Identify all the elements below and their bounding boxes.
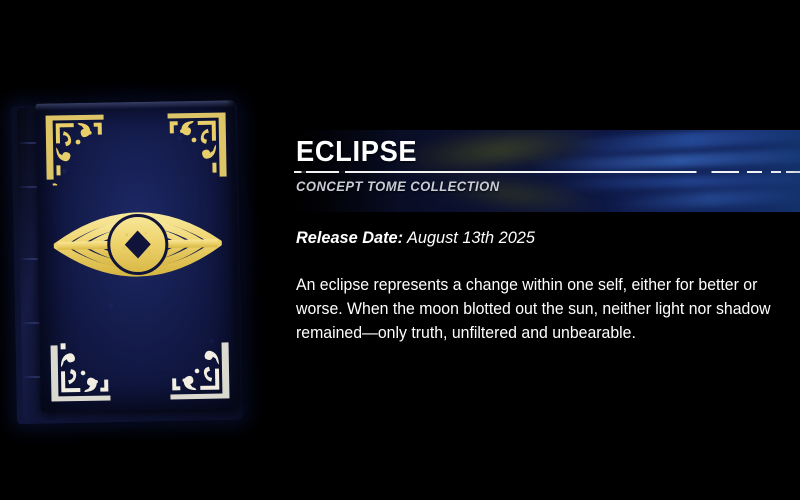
ornament-top-right-icon — [163, 110, 228, 188]
banner-smudge-1 — [398, 130, 601, 176]
banner-glow — [560, 136, 680, 196]
banner-streak-3 — [550, 173, 800, 191]
tome-detail-text: Release Date: August 13th 2025 An eclips… — [296, 228, 784, 345]
ornament-bottom-left-icon — [47, 333, 114, 403]
tome-subtitle: CONCEPT TOME COLLECTION — [296, 178, 500, 194]
banner-streak-2 — [530, 148, 800, 173]
release-date-label: Release Date: — [296, 228, 403, 247]
ornament-top-left-icon — [44, 113, 109, 191]
release-date-value: August 13th 2025 — [407, 228, 535, 247]
tome-description: An eclipse represents a change within on… — [296, 273, 784, 345]
tome-header-banner: ECLIPSE CONCEPT TOME COLLECTION — [280, 130, 800, 212]
release-date-line: Release Date: August 13th 2025 — [296, 228, 764, 248]
tome-detail-screen: ECLIPSE CONCEPT TOME COLLECTION Release … — [0, 0, 800, 500]
ornament-bottom-right-icon — [165, 331, 232, 401]
title-divider-tail — [794, 171, 800, 173]
title-divider — [294, 171, 794, 173]
tome-title: ECLIPSE — [296, 136, 417, 169]
book-front-cover — [35, 100, 240, 411]
tome-book-cover[interactable] — [14, 86, 250, 422]
banner-streak-1 — [560, 130, 800, 156]
eye-emblem-icon — [53, 189, 223, 305]
banner-streak-4 — [610, 187, 800, 211]
